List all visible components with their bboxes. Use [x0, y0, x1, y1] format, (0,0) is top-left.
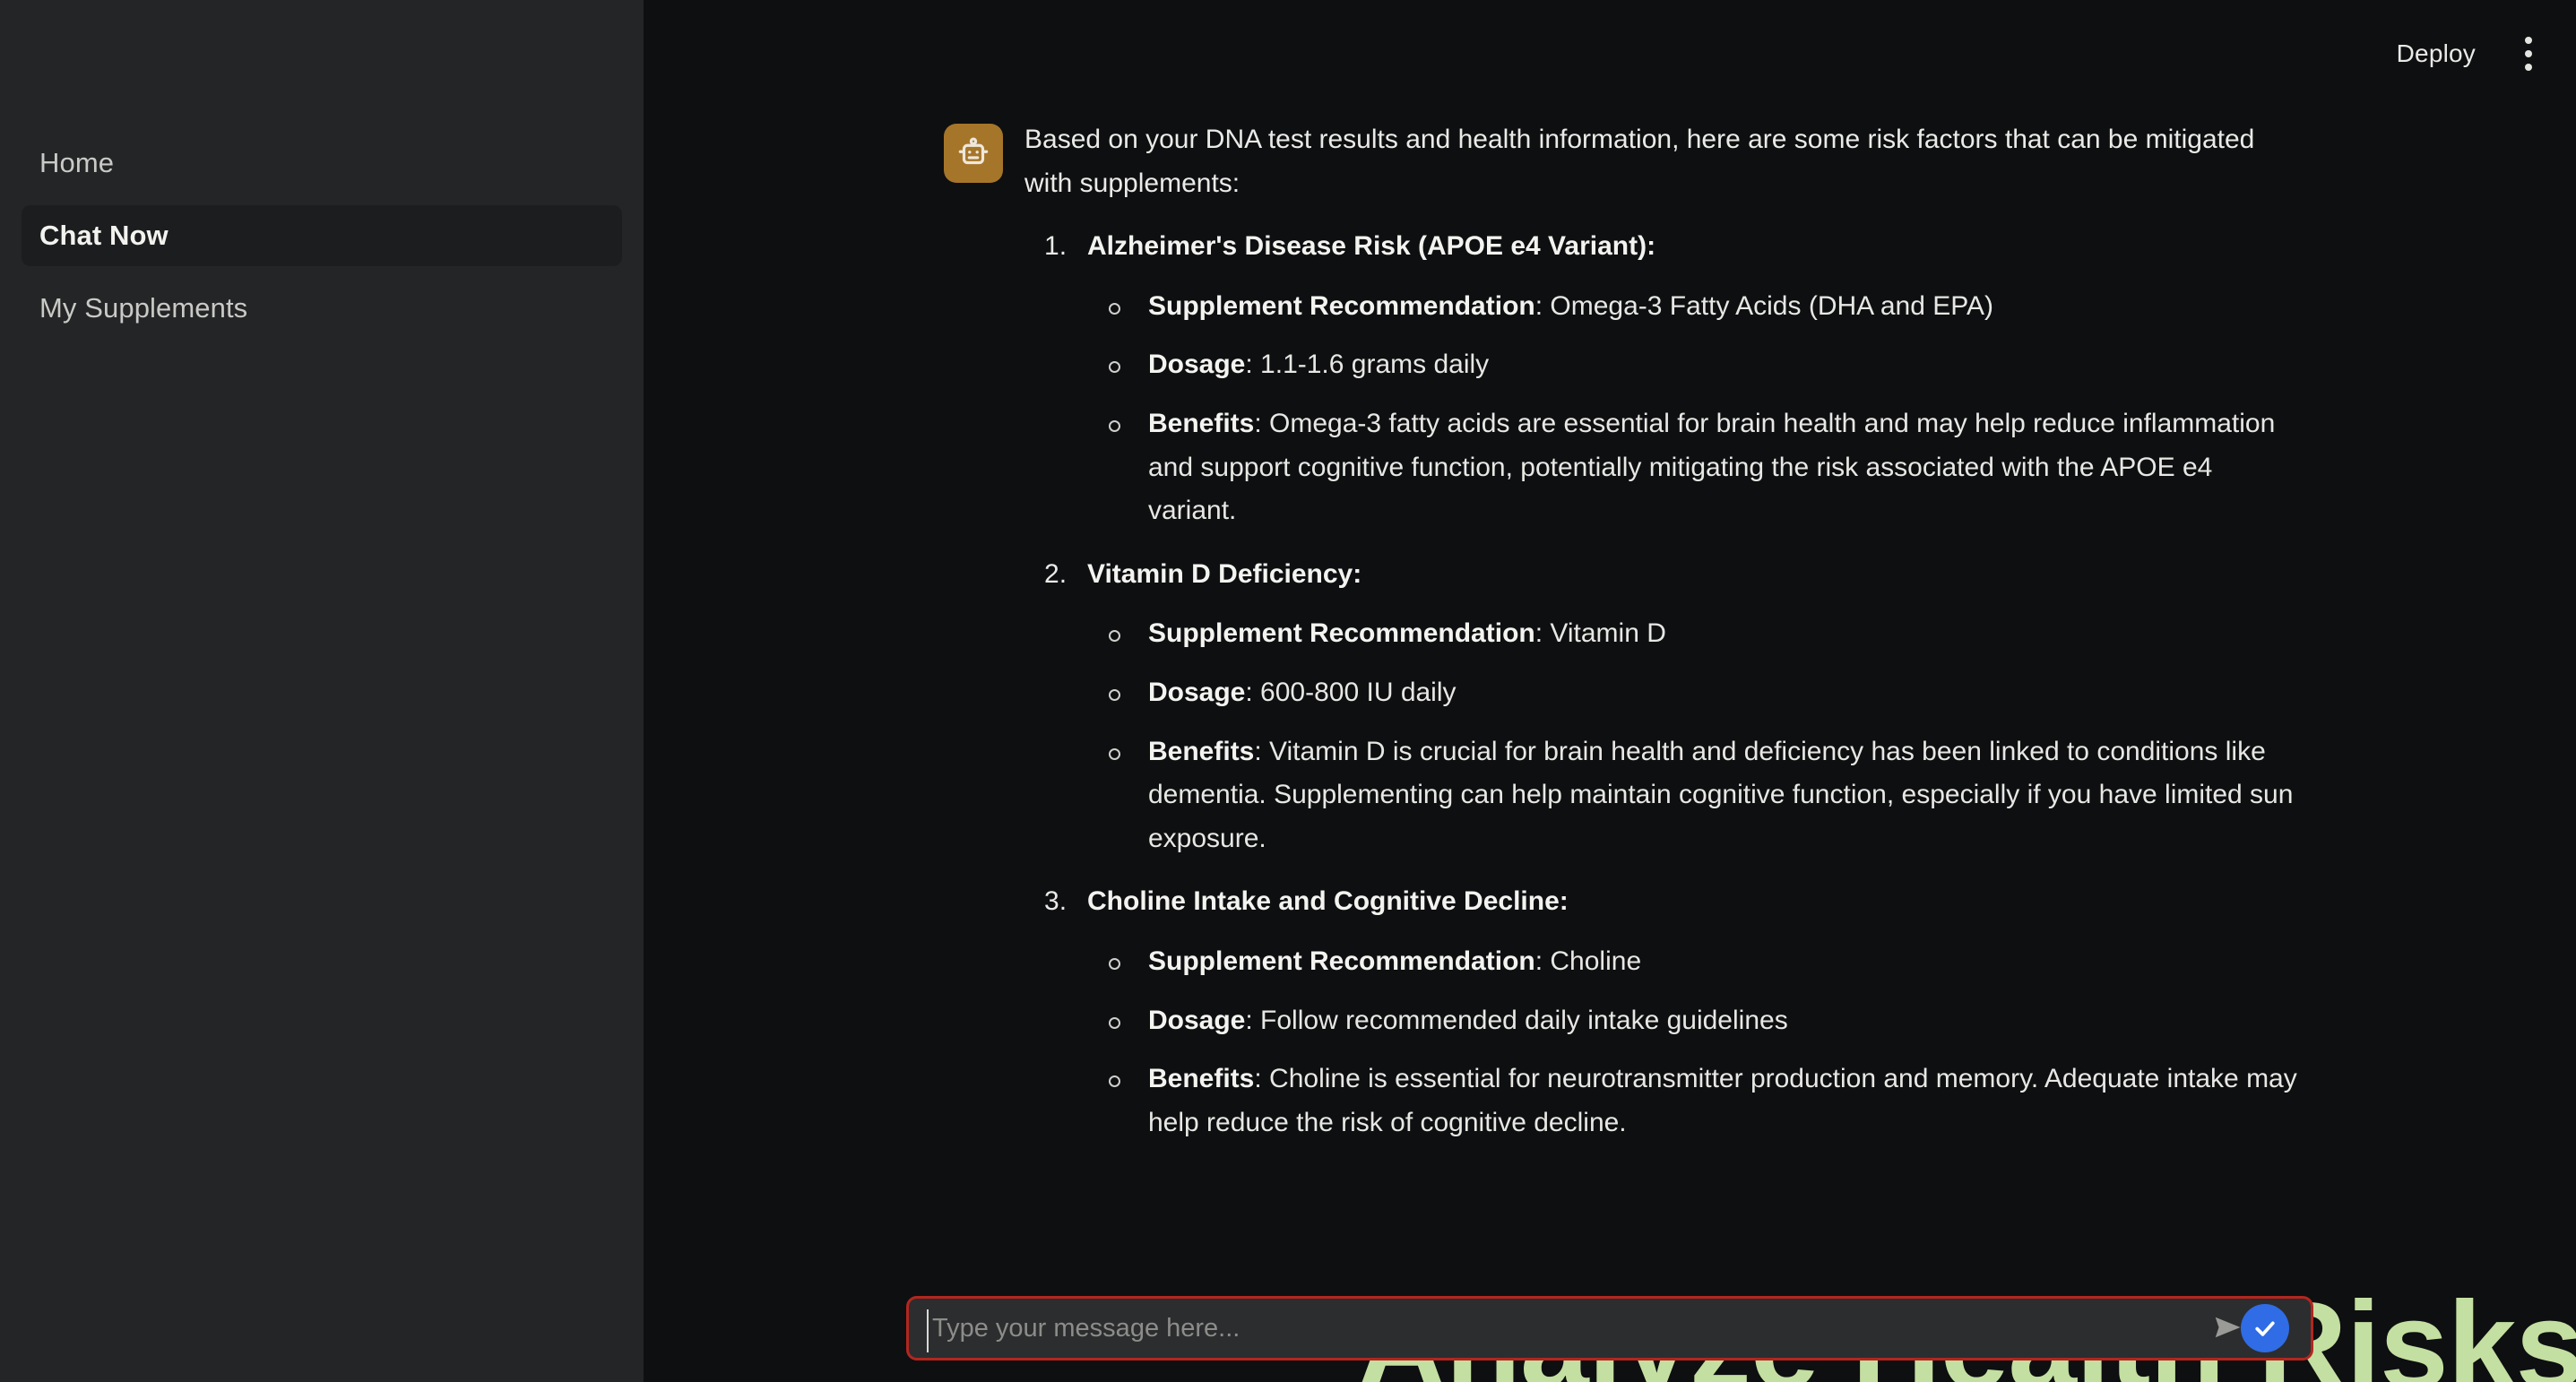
detail-label: Supplement Recommendation	[1148, 618, 1535, 648]
list-item: Dosage: Follow recommended daily intake …	[1087, 999, 2297, 1043]
sidebar-item-chat-now[interactable]: Chat Now	[22, 205, 622, 266]
risk-detail-list: Supplement Recommendation: Choline Dosag…	[1087, 940, 2297, 1144]
sidebar-item-label: My Supplements	[39, 292, 247, 324]
list-item: Dosage: 1.1-1.6 grams daily	[1087, 343, 2297, 387]
sidebar-nav: Home Chat Now My Supplements	[0, 133, 644, 339]
detail-label: Benefits	[1148, 409, 1254, 438]
deploy-button[interactable]: Deploy	[2397, 39, 2476, 68]
list-item: Supplement Recommendation: Choline	[1087, 940, 2297, 984]
list-item: Dosage: 600-800 IU daily	[1087, 671, 2297, 715]
detail-label: Supplement Recommendation	[1148, 291, 1535, 321]
detail-value: : 1.1-1.6 grams daily	[1245, 350, 1489, 379]
detail-label: Benefits	[1148, 1064, 1254, 1093]
risk-factor-list: Alzheimer's Disease Risk (APOE e4 Varian…	[1024, 225, 2297, 1144]
robot-avatar-icon	[944, 124, 1003, 183]
list-item: Benefits: Choline is essential for neuro…	[1087, 1058, 2297, 1144]
assistant-message: Based on your DNA test results and healt…	[644, 108, 2576, 1160]
sidebar-item-home[interactable]: Home	[22, 133, 622, 194]
risk-item-title: Vitamin D Deficiency:	[1087, 559, 1361, 589]
sidebar-item-my-supplements[interactable]: My Supplements	[22, 278, 622, 339]
assistant-message-body: Based on your DNA test results and healt…	[1024, 118, 2297, 1160]
sidebar-spacer	[0, 194, 644, 205]
risk-detail-list: Supplement Recommendation: Vitamin D Dos…	[1087, 612, 2297, 860]
risk-item-title: Choline Intake and Cognitive Decline:	[1087, 886, 1569, 916]
sidebar-spacer	[0, 266, 644, 278]
detail-label: Supplement Recommendation	[1148, 946, 1535, 976]
risk-item-title: Alzheimer's Disease Risk (APOE e4 Varian…	[1087, 231, 1655, 261]
detail-value: : Choline	[1535, 946, 1641, 976]
detail-value: : Choline is essential for neurotransmit…	[1148, 1064, 2297, 1137]
kebab-dot	[2525, 50, 2532, 57]
detail-label: Dosage	[1148, 350, 1245, 379]
list-item: Benefits: Vitamin D is crucial for brain…	[1087, 730, 2297, 861]
detail-value: : Vitamin D	[1535, 618, 1666, 648]
detail-label: Benefits	[1148, 737, 1254, 766]
risk-item: Choline Intake and Cognitive Decline: Su…	[1024, 880, 2297, 1144]
sidebar-item-label: Chat Now	[39, 220, 169, 252]
kebab-dot	[2525, 64, 2532, 71]
sidebar-item-label: Home	[39, 147, 114, 179]
detail-value: : Omega-3 fatty acids are essential for …	[1148, 409, 2275, 525]
chat-scroll-area[interactable]: Based on your DNA test results and healt…	[644, 108, 2576, 1382]
detail-label: Dosage	[1148, 678, 1245, 707]
list-item: Benefits: Omega-3 fatty acids are essent…	[1087, 402, 2297, 533]
detail-value: : 600-800 IU daily	[1245, 678, 1456, 707]
detail-value: : Omega-3 Fatty Acids (DHA and EPA)	[1535, 291, 1993, 321]
list-item: Supplement Recommendation: Vitamin D	[1087, 612, 2297, 656]
main-panel: Deploy	[644, 0, 2576, 1382]
detail-label: Dosage	[1148, 1006, 1245, 1035]
message-input[interactable]	[925, 1314, 2205, 1343]
risk-item: Vitamin D Deficiency: Supplement Recomme…	[1024, 553, 2297, 861]
risk-detail-list: Supplement Recommendation: Omega-3 Fatty…	[1087, 285, 2297, 533]
send-controls	[2205, 1300, 2293, 1356]
check-circle-icon[interactable]	[2241, 1304, 2289, 1352]
text-caret	[927, 1309, 929, 1352]
top-bar: Deploy	[644, 0, 2576, 108]
message-composer[interactable]	[906, 1296, 2313, 1360]
kebab-menu-icon[interactable]	[2513, 30, 2544, 78]
message-intro-text: Based on your DNA test results and healt…	[1024, 118, 2297, 205]
send-paper-plane-icon[interactable]	[2212, 1311, 2244, 1348]
risk-item: Alzheimer's Disease Risk (APOE e4 Varian…	[1024, 225, 2297, 533]
kebab-dot	[2525, 37, 2532, 44]
list-item: Supplement Recommendation: Omega-3 Fatty…	[1087, 285, 2297, 329]
composer-bar	[644, 1274, 2576, 1382]
app-root: Home Chat Now My Supplements Deploy	[0, 0, 2576, 1382]
detail-value: : Follow recommended daily intake guidel…	[1245, 1006, 1787, 1035]
sidebar: Home Chat Now My Supplements	[0, 0, 644, 1382]
detail-value: : Vitamin D is crucial for brain health …	[1148, 737, 2293, 853]
